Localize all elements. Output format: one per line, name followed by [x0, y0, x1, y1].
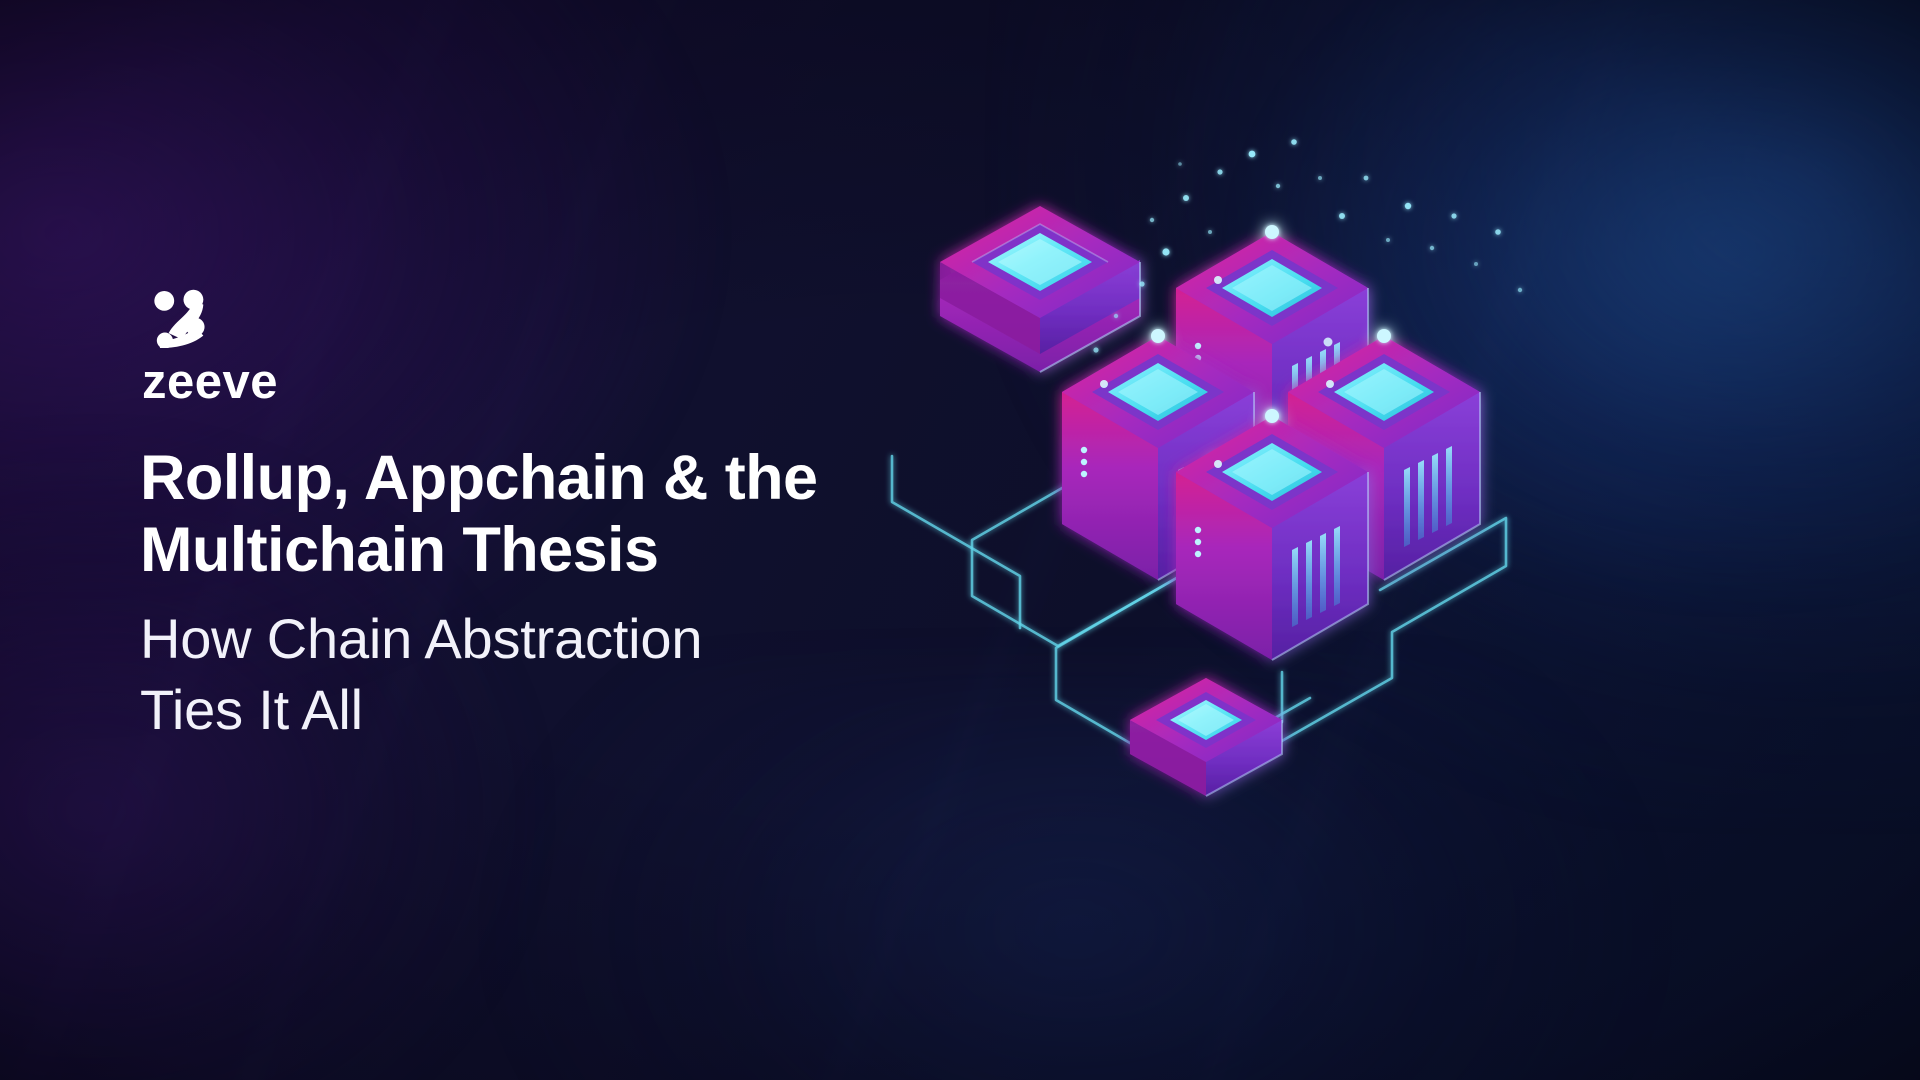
zeeve-logo-mark-icon — [150, 286, 212, 348]
banner-canvas: zeeve Rollup, Appchain & the Multichain … — [0, 0, 1920, 1080]
page-subtitle-line-1: How Chain Abstraction — [140, 603, 980, 675]
page-title-line-1: Rollup, Appchain & the — [140, 443, 980, 515]
page-subtitle-line-2: Ties It All — [140, 674, 980, 746]
server-front-leds — [1195, 527, 1201, 557]
page-title: Rollup, Appchain & the Multichain Thesis — [140, 443, 980, 587]
node-plate-bottom — [1130, 678, 1282, 796]
page-subtitle: How Chain Abstraction Ties It All — [140, 603, 980, 746]
link-2 — [892, 456, 1020, 628]
isometric-blockchain-illustration — [880, 120, 1620, 840]
page-title-line-2: Multichain Thesis — [140, 515, 980, 587]
isometric-network-svg — [880, 120, 1620, 840]
server-left-leds — [1081, 447, 1087, 477]
node-plate-top-left — [940, 206, 1140, 372]
